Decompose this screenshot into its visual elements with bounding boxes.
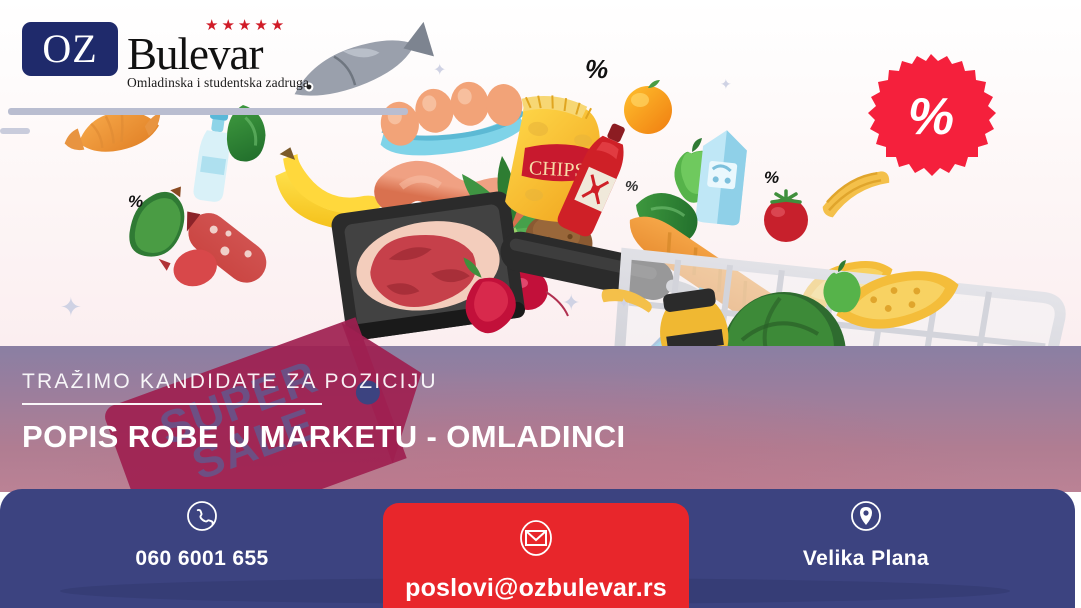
badge-percent-symbol: % — [866, 52, 996, 182]
logo-tagline: Omladinska i studentska zadruga. — [127, 75, 312, 91]
logo-brand-name: Bulevar — [127, 32, 312, 77]
map-pin-icon — [752, 500, 980, 537]
percent-mark-1: % — [585, 54, 608, 85]
percent-mark-4: % — [625, 178, 638, 195]
sparkle-1: ✦ — [60, 292, 82, 323]
contact-phone[interactable]: 060 6001 655 — [86, 500, 318, 571]
sparkle-2: ✦ — [562, 290, 580, 316]
location-name: Velika Plana — [752, 547, 980, 571]
percent-mark-2: % — [128, 192, 143, 212]
logo-mark-text: OZ — [42, 29, 97, 69]
contact-location[interactable]: Velika Plana — [752, 500, 980, 571]
contact-email-box[interactable]: poslovi@ozbulevar.rs — [383, 503, 689, 608]
headline-divider — [22, 403, 322, 405]
page-title: POPIS ROBE U MARKETU - OMLADINCI — [22, 419, 782, 455]
sparkle-3: ✦ — [618, 295, 630, 312]
shelf-line — [8, 108, 408, 115]
logo-stars: ★★★★★ — [205, 18, 287, 33]
headline-kicker: TRAŽIMO KANDIDATE ZA POZICIJU — [22, 370, 782, 394]
email-address: poslovi@ozbulevar.rs — [383, 574, 689, 603]
sparkle-4: ✦ — [433, 60, 446, 80]
shelf-line-secondary — [0, 128, 30, 134]
percent-discount-badge: % — [866, 52, 996, 182]
phone-icon — [86, 500, 318, 537]
poster-canvas: CHIPS — [0, 0, 1081, 608]
logo-mark-box: OZ — [22, 22, 118, 76]
logo-text-group: ★★★★★ Bulevar Omladinska i studentska za… — [127, 22, 312, 91]
envelope-icon — [383, 517, 689, 564]
percent-mark-3: % — [764, 168, 779, 188]
brand-logo[interactable]: OZ ★★★★★ Bulevar Omladinska i studentska… — [22, 22, 312, 91]
headline-block: TRAŽIMO KANDIDATE ZA POZICIJU POPIS ROBE… — [22, 370, 782, 455]
sparkle-5: ✦ — [720, 76, 732, 93]
phone-number: 060 6001 655 — [86, 547, 318, 571]
